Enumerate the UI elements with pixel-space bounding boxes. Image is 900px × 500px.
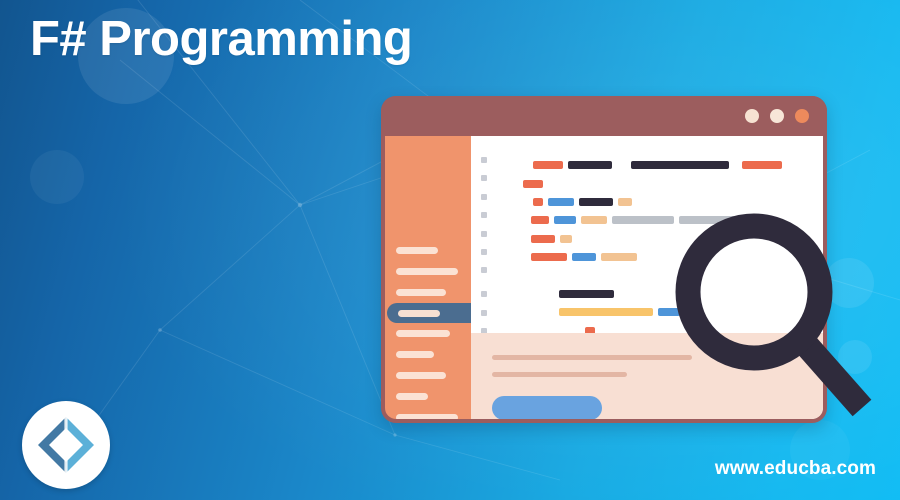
sidebar-item-2-bar [396, 268, 458, 275]
code-token-sand [601, 253, 637, 261]
window-titlebar [381, 96, 827, 136]
sidebar-item-6[interactable] [385, 344, 471, 365]
code-line [499, 193, 823, 211]
gutter-dot [481, 175, 487, 181]
code-token-sand [618, 198, 632, 206]
code-token-dark [559, 290, 614, 298]
sidebar-item-8-bar [396, 393, 428, 400]
primary-action-button[interactable] [492, 396, 602, 419]
bottom-panel [471, 333, 823, 419]
gutter-dot [481, 194, 487, 200]
code-line [499, 266, 823, 284]
window-dot-1[interactable] [745, 109, 759, 123]
code-token-blue [548, 198, 574, 206]
gutter-dot [481, 267, 487, 273]
sidebar-list [385, 240, 471, 419]
brand-url[interactable]: www.educba.com [715, 458, 876, 480]
gutter-dot [481, 291, 487, 297]
code-token-red [742, 161, 782, 169]
window-dot-2[interactable] [770, 109, 784, 123]
code-token-red [523, 180, 543, 188]
fsharp-logo [22, 401, 110, 489]
sidebar-item-1-bar [396, 247, 438, 254]
code-token-red [533, 161, 563, 169]
window-body [385, 136, 823, 419]
code-line [499, 211, 823, 229]
gutter-dot [481, 249, 487, 255]
code-token-sand [581, 216, 607, 224]
sidebar-item-8[interactable] [385, 386, 471, 407]
code-token-sand [560, 235, 572, 243]
bp-line-2 [492, 372, 627, 377]
code-editor-window [381, 96, 827, 423]
code-token-dark [579, 198, 613, 206]
sidebar-item-2[interactable] [385, 261, 471, 282]
code-line [499, 285, 823, 303]
code-token-dark [631, 161, 729, 169]
sidebar [385, 136, 471, 419]
code-token-gray [612, 216, 674, 224]
code-line [499, 230, 823, 248]
sidebar-item-5-bar [396, 330, 450, 337]
code-line [499, 156, 823, 174]
poster-canvas: F# Programming www.educba.com [0, 0, 900, 500]
gutter-dot [481, 310, 487, 316]
code-line [499, 174, 823, 192]
window-dot-3[interactable] [795, 109, 809, 123]
sidebar-item-9-bar [396, 414, 458, 419]
code-token-red [531, 216, 549, 224]
code-line [499, 303, 823, 321]
gutter-dot [481, 157, 487, 163]
gutter-dot [481, 231, 487, 237]
page-title: F# Programming [30, 9, 412, 70]
sidebar-item-3-bar [396, 289, 446, 296]
sidebar-item-3[interactable] [385, 282, 471, 303]
sidebar-item-4[interactable] [387, 303, 473, 323]
gutter-dot [481, 212, 487, 218]
window-controls [745, 109, 809, 123]
sidebar-item-7-bar [396, 372, 446, 379]
code-token-red [533, 198, 543, 206]
fsharp-diamond-icon [36, 415, 96, 475]
sidebar-item-5[interactable] [385, 323, 471, 344]
code-token-red [531, 235, 555, 243]
sidebar-item-7[interactable] [385, 365, 471, 386]
bp-line-1 [492, 355, 692, 360]
sidebar-item-6-bar [396, 351, 434, 358]
sidebar-item-9[interactable] [385, 407, 471, 419]
code-token-gray [679, 216, 747, 224]
sidebar-item-1[interactable] [385, 240, 471, 261]
sidebar-item-4-bar [398, 310, 440, 317]
code-token-red [531, 253, 567, 261]
code-token-blue [572, 253, 596, 261]
code-token-gold [559, 308, 653, 316]
code-token-blue [554, 216, 576, 224]
code-line [499, 248, 823, 266]
code-token-blue [658, 308, 680, 316]
code-token-dark [568, 161, 612, 169]
